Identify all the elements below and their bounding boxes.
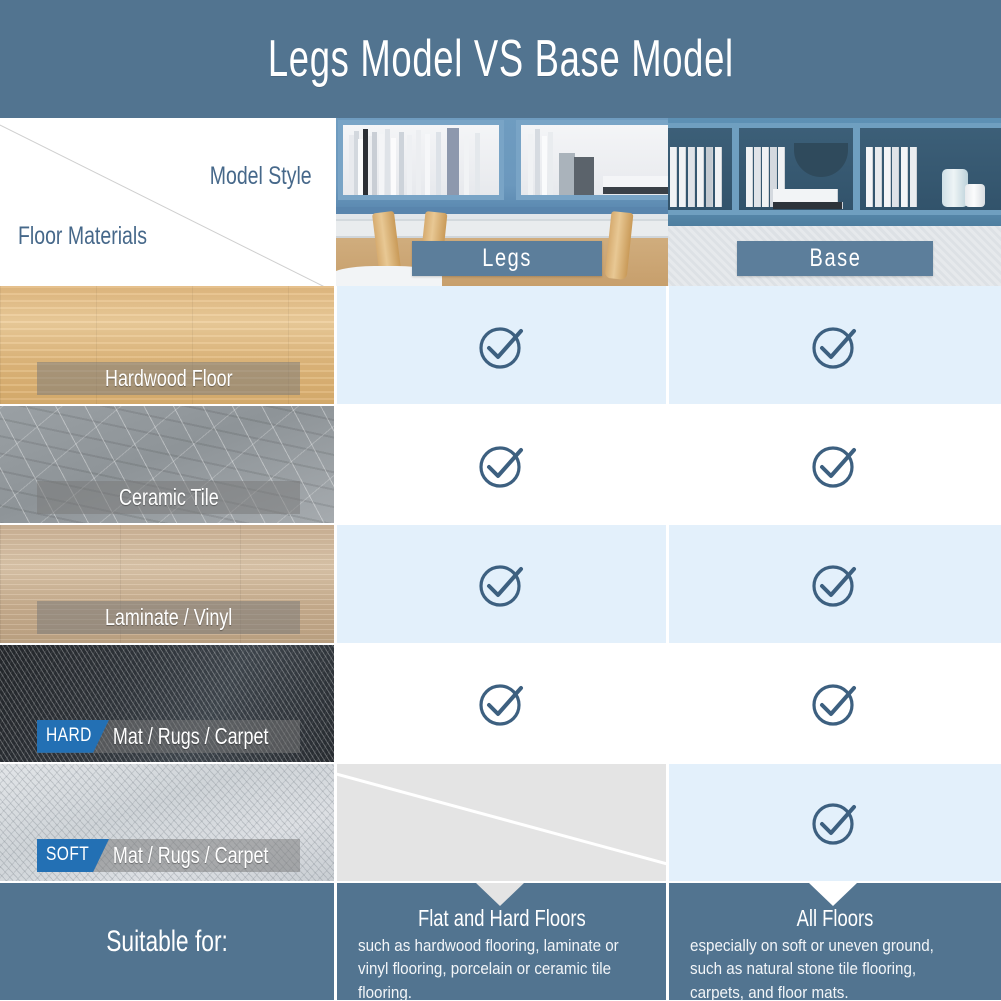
base-cell-available bbox=[668, 763, 1001, 882]
footer-separator-2 bbox=[666, 883, 669, 1001]
corner-model-style-label: Model Style bbox=[210, 162, 312, 191]
legs-cell-available bbox=[336, 644, 668, 763]
material-label-bar: Hardwood Floor bbox=[37, 362, 300, 395]
material-row-label: Ceramic Tile bbox=[0, 405, 336, 524]
suitable-for-label: Suitable for: bbox=[0, 883, 334, 1001]
legs-cell-available bbox=[336, 524, 668, 643]
check-circle-icon bbox=[808, 676, 862, 730]
comparison-grid: Model Style Floor Materials bbox=[0, 118, 1001, 1001]
legs-cell-available bbox=[336, 286, 668, 405]
base-column-caption: Base bbox=[737, 241, 933, 276]
corner-diagonal-divider bbox=[0, 118, 336, 286]
base-cell-available bbox=[668, 524, 1001, 643]
material-name: Ceramic Tile bbox=[119, 484, 219, 511]
material-label-bar: Laminate / Vinyl bbox=[37, 601, 300, 634]
footer-band: Suitable for: Flat and Hard Floors such … bbox=[0, 883, 1001, 1001]
legs-footer-body: such as hardwood flooring, laminate or v… bbox=[358, 935, 634, 1001]
row-separator bbox=[0, 762, 1001, 764]
material-name: Laminate / Vinyl bbox=[105, 604, 232, 631]
legs-column-header: Legs bbox=[336, 118, 668, 286]
check-circle-icon bbox=[808, 795, 862, 849]
page-title: Legs Model VS Base Model bbox=[267, 33, 733, 85]
material-label-bar: HARDMat / Rugs / Carpet bbox=[37, 720, 300, 753]
row-separator bbox=[0, 404, 1001, 406]
legs-cell-unavailable bbox=[336, 763, 668, 882]
hardness-badge: HARD bbox=[37, 720, 109, 753]
material-row-label: Hardwood Floor bbox=[0, 286, 336, 405]
base-cell-available bbox=[668, 644, 1001, 763]
hardness-badge: SOFT bbox=[37, 839, 109, 872]
row-separator bbox=[0, 523, 1001, 525]
material-row-label: Laminate / Vinyl bbox=[0, 524, 336, 643]
material-row-label: SOFTMat / Rugs / Carpet bbox=[0, 763, 336, 882]
check-circle-icon bbox=[475, 557, 529, 611]
row-separator bbox=[0, 643, 1001, 645]
base-cell-available bbox=[668, 286, 1001, 405]
legs-column-caption: Legs bbox=[412, 241, 602, 276]
check-circle-icon bbox=[808, 557, 862, 611]
corner-floor-materials-label: Floor Materials bbox=[18, 222, 147, 251]
corner-header-cell: Model Style Floor Materials bbox=[0, 118, 336, 286]
base-column-header: Base bbox=[668, 118, 1001, 286]
check-circle-icon bbox=[808, 319, 862, 373]
base-footer-heading: All Floors bbox=[668, 905, 1001, 932]
check-circle-icon bbox=[475, 319, 529, 373]
footer-separator-1 bbox=[334, 883, 337, 1001]
material-label-bar: Ceramic Tile bbox=[37, 481, 300, 514]
base-cell-available bbox=[668, 405, 1001, 524]
check-circle-icon bbox=[475, 676, 529, 730]
title-banner: Legs Model VS Base Model bbox=[0, 0, 1001, 118]
check-circle-icon bbox=[808, 438, 862, 492]
legs-footer-heading: Flat and Hard Floors bbox=[336, 905, 668, 932]
material-name: Hardwood Floor bbox=[105, 365, 233, 392]
legs-cell-available bbox=[336, 405, 668, 524]
material-name: Mat / Rugs / Carpet bbox=[113, 842, 269, 869]
check-circle-icon bbox=[475, 438, 529, 492]
comparison-infographic: Legs Model VS Base Model Model Style Flo… bbox=[0, 0, 1001, 1001]
material-row-label: HARDMat / Rugs / Carpet bbox=[0, 644, 336, 763]
material-name: Mat / Rugs / Carpet bbox=[113, 723, 269, 750]
row-separator bbox=[0, 881, 1001, 883]
base-footer-body: especially on soft or uneven ground, suc… bbox=[690, 935, 966, 1001]
material-label-bar: SOFTMat / Rugs / Carpet bbox=[37, 839, 300, 872]
